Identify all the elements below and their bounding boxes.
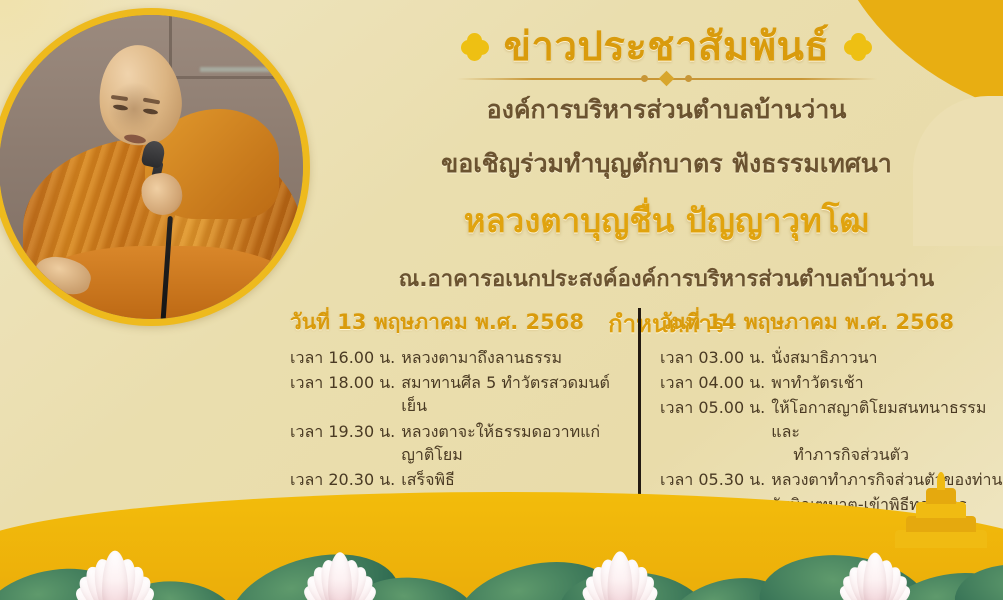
page-title: ข่าวประชาสัมพันธ์ — [504, 25, 830, 70]
monk-photo-inner — [0, 15, 303, 319]
title-row: ข่าวประชาสัมพันธ์ — [330, 0, 1003, 70]
schedule-item-detail: หลวงตาจะให้ธรรมดอวาทแก่ญาติโยม — [395, 420, 620, 466]
venue-text: ณ.อาคารอเนกประสงค์องค์การบริหารส่วนตำบลบ… — [330, 261, 1003, 296]
schedule-item-detail: ให้โอกาสญาติโยมสนทนาธรรมและ ทำภารกิจส่วน… — [765, 396, 1003, 466]
schedule-item-detail: สมาทานศีล 5 ทำวัตรสวดมนต์เย็น — [395, 371, 620, 417]
schedule-item: เวลา 03.00 น. นั่งสมาธิภาวนา — [660, 346, 1003, 369]
schedule-item-detail-cont: ทำภารกิจส่วนตัว — [771, 443, 1003, 466]
schedule-date-day2: วันที่ 14 พฤษภาคม พ.ศ. 2568 — [660, 306, 1003, 339]
lotus-band — [0, 492, 1003, 600]
schedule-item-time: เวลา 05.00 น. — [660, 396, 765, 466]
schedule-item-time: เวลา 19.30 น. — [290, 420, 395, 466]
flower-ornament-left-icon — [462, 34, 488, 60]
schedule-item-time: เวลา 18.00 น. — [290, 371, 395, 417]
schedule-item: เวลา 18.00 น. สมาทานศีล 5 ทำวัตรสวดมนต์เ… — [290, 371, 620, 417]
schedule-item: เวลา 05.00 น. ให้โอกาสญาติโยมสนทนาธรรมแล… — [660, 396, 1003, 466]
organization-name: องค์การบริหารส่วนตำบลบ้านว่าน — [330, 90, 1003, 130]
schedule-item-time: เวลา 03.00 น. — [660, 346, 765, 369]
schedule-item-time: เวลา 05.30 น. — [660, 468, 765, 491]
monk-name: หลวงตาบุญชื่น ปัญญาวุทโฒ — [330, 194, 1003, 247]
event-poster: ข่าวประชาสัมพันธ์ องค์การบริหารส่วนตำบลบ… — [0, 0, 1003, 600]
schedule-item-time: เวลา 16.00 น. — [290, 346, 395, 369]
schedule-item-time: เวลา 20.30 น. — [290, 468, 395, 491]
schedule-item: เวลา 16.00 น. หลวงตามาถึงลานธรรม — [290, 346, 620, 369]
schedule-item-detail-line: ให้โอกาสญาติโยมสนทนาธรรมและ — [771, 398, 986, 440]
schedule-item: เวลา 19.30 น. หลวงตาจะให้ธรรมดอวาทแก่ญาต… — [290, 420, 620, 466]
schedule-item-detail: หลวงตามาถึงลานธรรม — [395, 346, 562, 369]
monk-photo — [0, 8, 310, 326]
schedule-item: เวลา 04.00 น. พาทำวัตรเช้า — [660, 371, 1003, 394]
schedule-item: เวลา 20.30 น. เสร็จพิธี — [290, 468, 620, 491]
schedule-item-detail: พาทำวัตรเช้า — [765, 371, 863, 394]
ornamental-divider-icon — [457, 72, 877, 86]
schedule-date-day1: วันที่ 13 พฤษภาคม พ.ศ. 2568 — [290, 306, 620, 339]
schedule-item-detail: เสร็จพิธี — [395, 468, 455, 491]
schedule-item-time: เวลา 04.00 น. — [660, 371, 765, 394]
poster-header: ข่าวประชาสัมพันธ์ องค์การบริหารส่วนตำบลบ… — [330, 0, 1003, 343]
schedule-item-detail: นั่งสมาธิภาวนา — [765, 346, 877, 369]
thai-temple-ornament-icon — [893, 474, 989, 548]
flower-ornament-right-icon — [845, 34, 871, 60]
photo-ceiling-light — [200, 67, 291, 72]
invitation-text: ขอเชิญร่วมทำบุญตักบาตร ฟังธรรมเทศนา — [330, 144, 1003, 184]
